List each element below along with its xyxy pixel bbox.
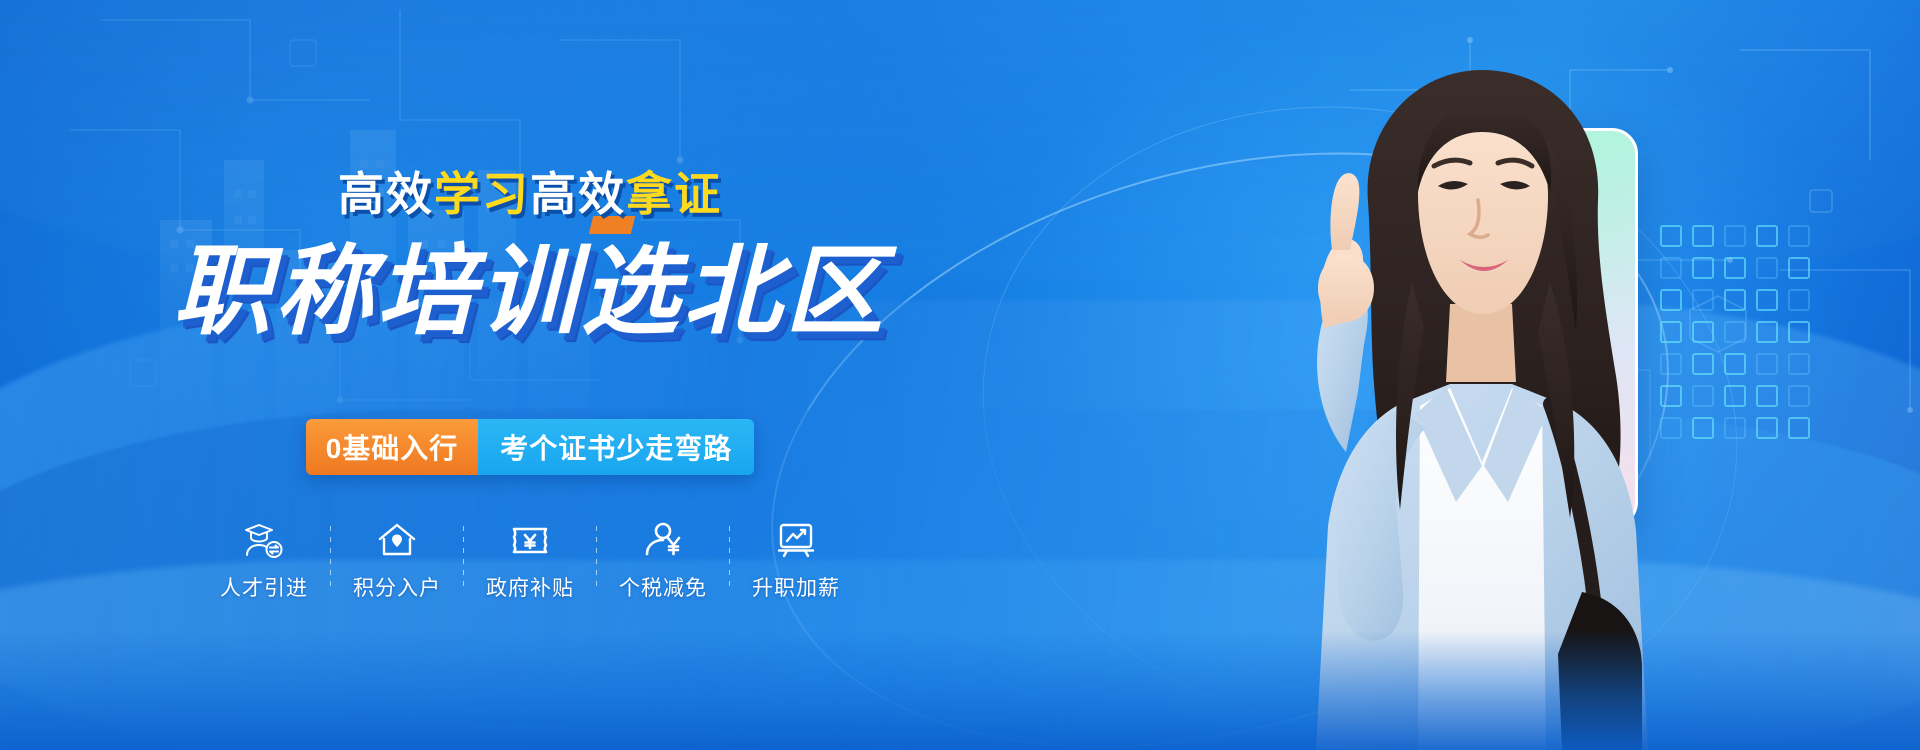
- feature-item-subsidy[interactable]: 政府补贴: [464, 520, 596, 602]
- feature-item-promotion[interactable]: 升职加薪: [730, 520, 862, 602]
- feature-list: 人才引进 积分入户: [0, 520, 1060, 602]
- house-pin-icon: [375, 520, 419, 560]
- headline-before: 职称培训: [173, 236, 581, 346]
- graduate-talent-icon: [242, 520, 286, 560]
- feature-item-household[interactable]: 积分入户: [331, 520, 463, 602]
- promo-banner: 高效学习高效拿证 职称培训选北区 0基础入行 考个证书少走弯路: [0, 0, 1920, 750]
- slogan-tag-left[interactable]: 0基础入行: [306, 419, 479, 475]
- headline: 职称培训选北区: [0, 212, 1060, 354]
- person-yuan-icon: [641, 520, 685, 560]
- feature-label: 积分入户: [353, 572, 441, 602]
- businesswoman-photo: [1250, 32, 1710, 750]
- feature-item-tax[interactable]: 个税减免: [597, 520, 729, 602]
- headline-accent-char: 选: [581, 212, 683, 354]
- chart-board-icon: [774, 520, 818, 560]
- voucher-yuan-icon: [508, 520, 552, 560]
- slogan-tag-right[interactable]: 考个证书少走弯路: [478, 419, 754, 475]
- feature-item-talent[interactable]: 人才引进: [198, 520, 330, 602]
- slogan-tag[interactable]: 0基础入行 考个证书少走弯路: [0, 419, 1060, 475]
- headline-after: 北区: [683, 236, 887, 346]
- feature-label: 升职加薪: [752, 572, 840, 602]
- hero-visual: [1060, 0, 1920, 750]
- feature-label: 政府补贴: [486, 572, 574, 602]
- feature-label: 个税减免: [619, 572, 707, 602]
- banner-content: 高效学习高效拿证 职称培训选北区 0基础入行 考个证书少走弯路: [0, 0, 1060, 750]
- feature-label: 人才引进: [220, 572, 308, 602]
